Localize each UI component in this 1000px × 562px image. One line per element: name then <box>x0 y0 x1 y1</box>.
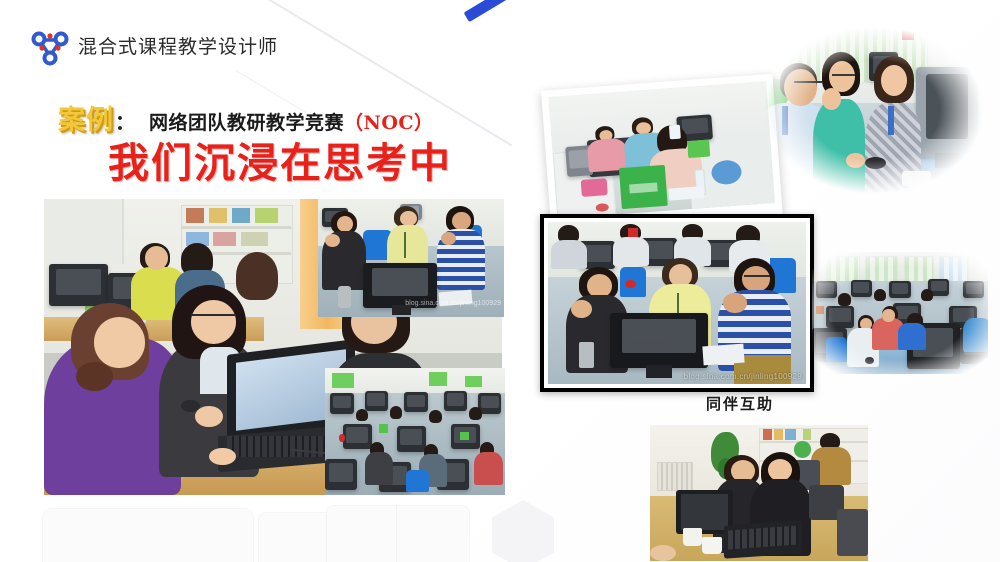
case-label: 案例 <box>58 98 114 137</box>
peer-support-caption: 同伴互助 <box>706 393 774 414</box>
framed-peer-support-photo: blog.sina.com.cn/jinling100929 <box>540 214 814 392</box>
inset-computer-lab-photo <box>325 368 505 495</box>
decorative-rectangle-3 <box>326 505 470 562</box>
two-women-laptop-photo <box>650 425 868 561</box>
page-title: 我们沉浸在思考中 <box>108 129 452 189</box>
brand-title: 混合式课程教学设计师 <box>78 32 278 59</box>
tilted-framed-office-photo <box>541 74 783 236</box>
decorative-line-2 <box>396 506 397 562</box>
molecule-network-logo <box>30 28 70 68</box>
decorative-line-1 <box>326 512 327 562</box>
decorative-rectangle-1 <box>42 508 254 562</box>
photo-watermark-inset: blog.sina.com.cn/jinling100929 <box>405 300 501 307</box>
computer-lab-wide-photo <box>812 252 988 374</box>
decorative-hexagon <box>492 500 554 562</box>
photo-watermark-center: blog.sina.com.cn/jinling100929 <box>684 372 802 381</box>
inset-discussion-photo: blog.sina.com.cn/jinling100929 <box>318 199 504 317</box>
slide-canvas: 混合式课程教学设计师 案例 ： 网络团队教研教学竞赛（NOC） 我们沉浸在思考中 <box>0 0 1000 562</box>
oval-teachers-at-monitor-photo <box>756 20 992 200</box>
